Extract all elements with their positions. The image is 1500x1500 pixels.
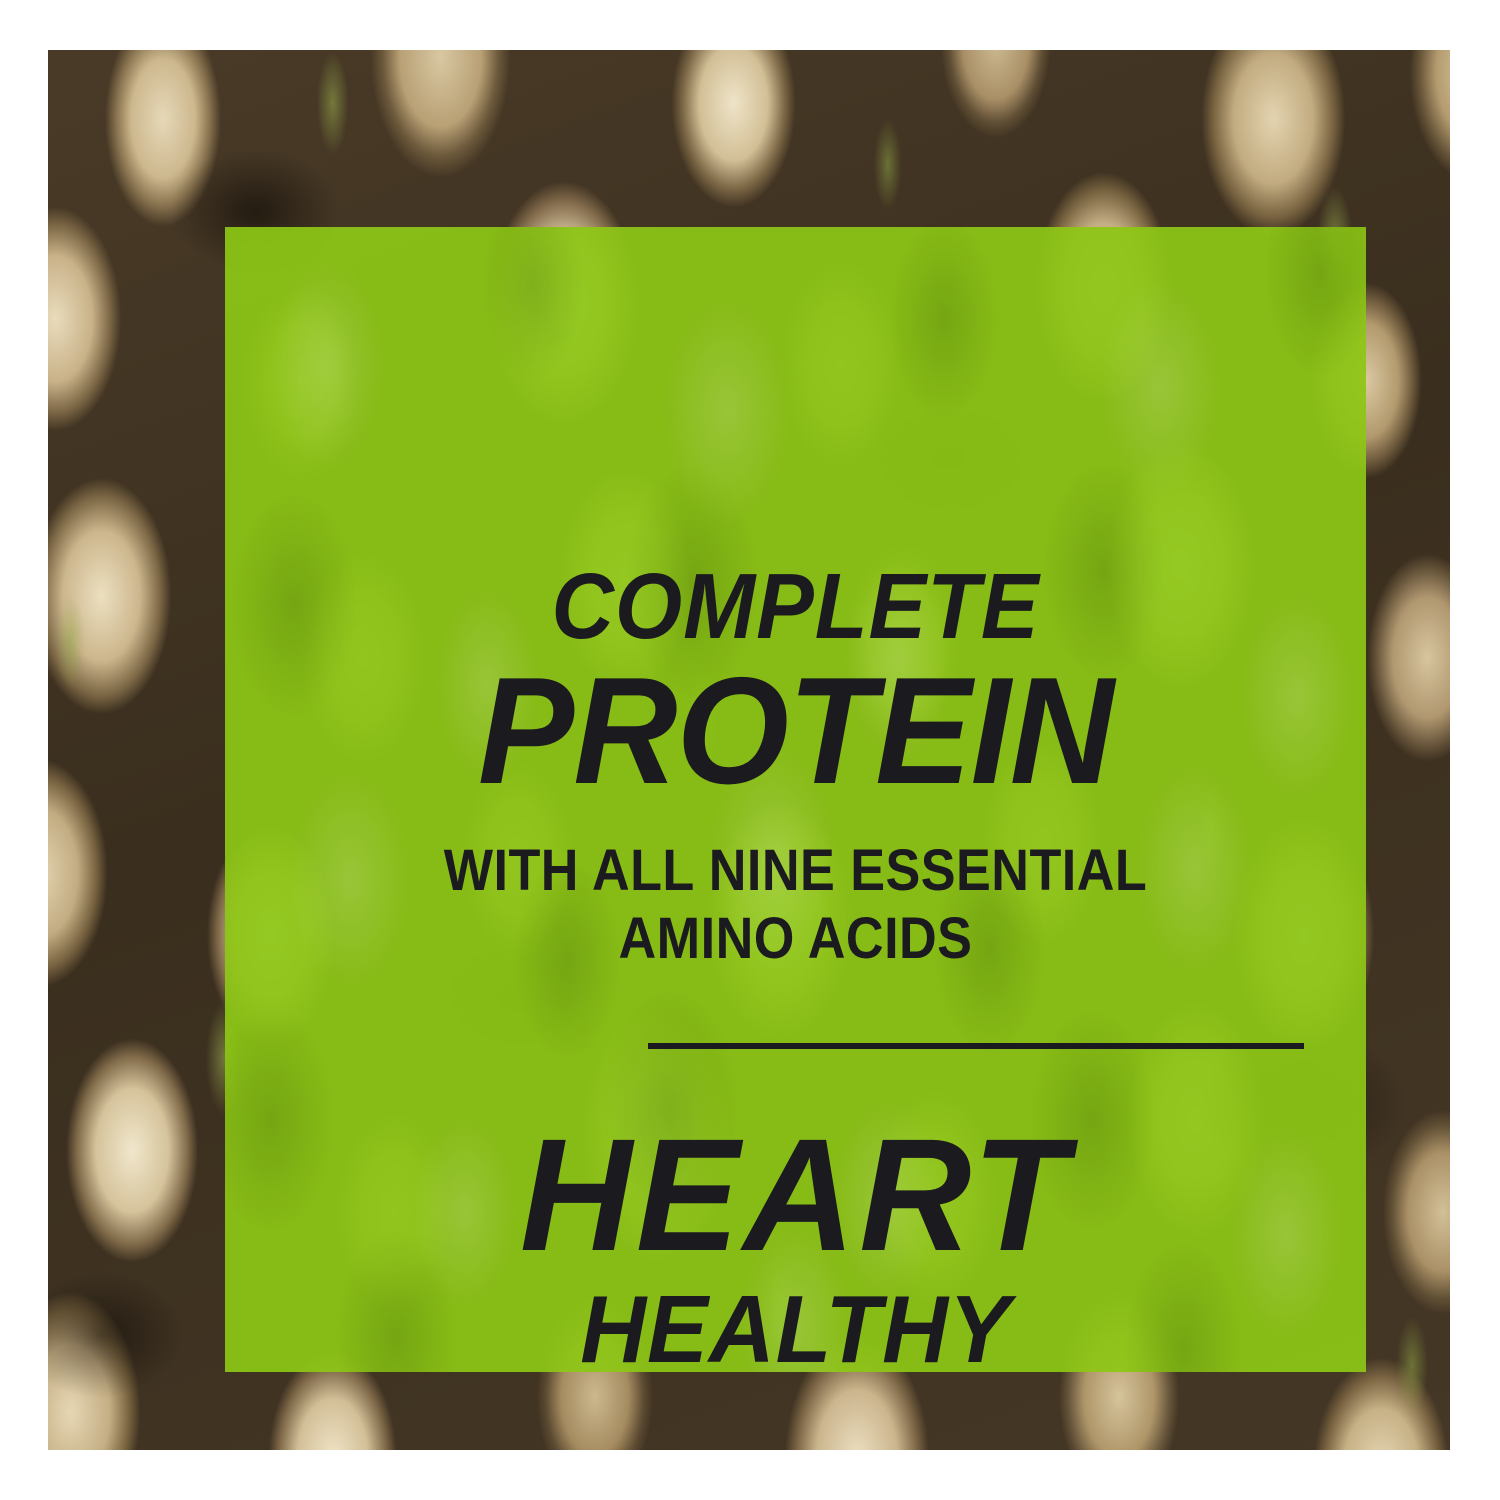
product-claim-card: COMPLETE PROTEIN WITH ALL NINE ESSENTIAL…: [0, 0, 1500, 1500]
headline-complete: COMPLETE: [265, 560, 1326, 653]
headline-healthy: HEALTHY: [254, 1282, 1338, 1372]
pistachio-background-photo: COMPLETE PROTEIN WITH ALL NINE ESSENTIAL…: [48, 50, 1450, 1450]
headline-heart: HEART: [242, 1115, 1349, 1275]
subtitle-line-2: AMINO ACIDS: [282, 910, 1309, 968]
section-divider-rule: [648, 1043, 1304, 1049]
headline-protein: PROTEIN: [254, 655, 1338, 807]
green-claim-panel: COMPLETE PROTEIN WITH ALL NINE ESSENTIAL…: [225, 227, 1366, 1372]
subtitle-line-1: WITH ALL NINE ESSENTIAL: [282, 842, 1309, 900]
claim-panel-content: COMPLETE PROTEIN WITH ALL NINE ESSENTIAL…: [225, 227, 1366, 1372]
